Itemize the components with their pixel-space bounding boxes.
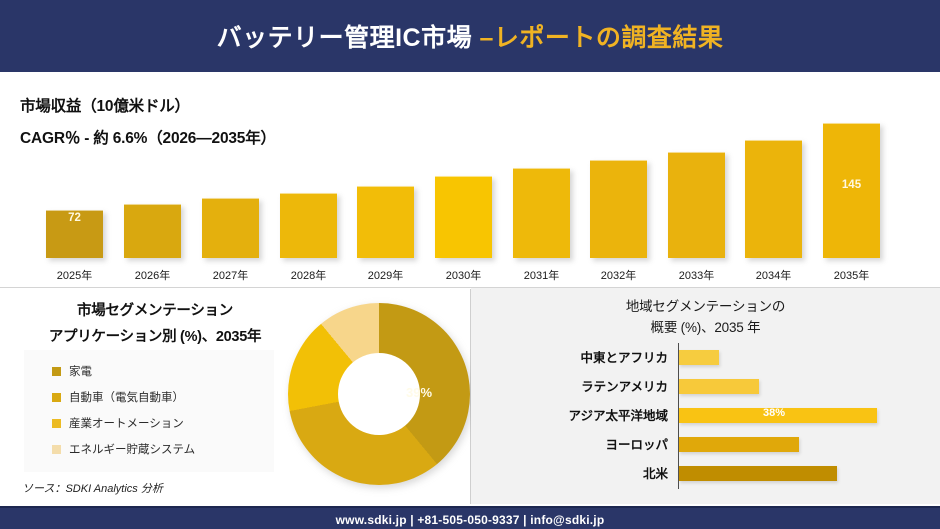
revenue-chart-section: 市場収益（10億米ドル） CAGR％ - 約 6.6%（2026—2035年） …: [0, 72, 940, 287]
footer-contact: www.sdki.jp | +81-505-050-9337 | info@sd…: [336, 513, 605, 527]
revenue-bar-value: 72: [46, 212, 103, 224]
region-bar-row: 北米: [471, 459, 940, 487]
legend-swatch-icon: [52, 393, 61, 402]
page-title: バッテリー管理IC市場 –レポートの調査結果: [217, 18, 724, 54]
region-bar: [679, 379, 759, 394]
revenue-bar: [357, 186, 414, 258]
header-banner: バッテリー管理IC市場 –レポートの調査結果: [0, 0, 940, 74]
region-bar-chart: 中東とアフリカラテンアメリカアジア太平洋地域38%ヨーロッパ北米: [471, 343, 940, 493]
donut-chart: 39%: [288, 303, 470, 485]
revenue-bar-label: 2029年: [351, 267, 420, 283]
donut-value-label: 39%: [406, 385, 432, 400]
region-bar-label: アジア太平洋地域: [568, 405, 668, 424]
page-title-accent: –レポートの調査結果: [480, 24, 724, 52]
region-bar-row: 中東とアフリカ: [471, 343, 940, 371]
regional-segmentation-panel: 地域セグメンテーションの 概要 (%)、2035 年 中東とアフリカラテンアメリ…: [471, 288, 940, 504]
revenue-bar-label: 2031年: [507, 267, 576, 283]
source-note: ソース：SDKI Analytics 分析: [22, 480, 163, 496]
region-bar-label: 北米: [643, 463, 668, 482]
legend-item[interactable]: 自動車（電気自動車）: [30, 384, 268, 410]
revenue-bar: [513, 168, 570, 258]
region-bar: [679, 350, 719, 365]
legend-swatch-icon: [52, 367, 61, 376]
page-title-main: バッテリー管理IC市場: [217, 24, 480, 52]
legend-item[interactable]: エネルギー貯蔵システム: [30, 436, 268, 462]
region-bar: [679, 437, 799, 452]
legend-item-label: 家電: [69, 363, 92, 379]
revenue-bar-value: 145: [823, 179, 880, 191]
footer-banner: www.sdki.jp | +81-505-050-9337 | info@sd…: [0, 506, 940, 529]
revenue-bar: [745, 140, 802, 258]
donut-legend: 家電自動車（電気自動車）産業オートメーションエネルギー貯蔵システム: [24, 350, 274, 472]
legend-swatch-icon: [52, 445, 61, 454]
revenue-bar: [124, 204, 181, 258]
revenue-bar-label: 2030年: [429, 267, 498, 283]
legend-item[interactable]: 産業オートメーション: [30, 410, 268, 436]
region-bar-label: 中東とアフリカ: [580, 347, 668, 366]
region-bar-row: アジア太平洋地域38%: [471, 401, 940, 429]
revenue-bar-label: 2034年: [739, 267, 808, 283]
revenue-bar-label: 2027年: [196, 267, 265, 283]
region-title: 地域セグメンテーションの 概要 (%)、2035 年: [471, 296, 940, 338]
segmentation-title: 市場セグメンテーション アプリケーション別 (%)、2035年: [10, 298, 300, 350]
revenue-bar-label: 2032年: [584, 267, 653, 283]
region-bar-row: ラテンアメリカ: [471, 372, 940, 400]
revenue-bar: [435, 176, 492, 258]
revenue-bar-label: 2026年: [118, 267, 187, 283]
legend-item[interactable]: 家電: [30, 358, 268, 384]
revenue-bar-label: 2025年: [40, 267, 109, 283]
region-title-line2: 概要 (%)、2035 年: [471, 317, 940, 338]
segmentation-title-line2: アプリケーション別 (%)、2035年: [10, 324, 300, 350]
legend-item-label: 自動車（電気自動車）: [69, 389, 184, 405]
region-bar: [679, 466, 837, 481]
region-bar-label: ラテンアメリカ: [581, 376, 668, 395]
region-bar-value: 38%: [763, 407, 785, 419]
revenue-bar: [280, 193, 337, 258]
revenue-bar: [668, 152, 725, 258]
region-title-line1: 地域セグメンテーションの: [471, 296, 940, 317]
segmentation-title-line1: 市場セグメンテーション: [10, 298, 300, 324]
revenue-bar: [202, 198, 259, 258]
infographic-page: バッテリー管理IC市場 –レポートの調査結果 市場収益（10億米ドル） CAGR…: [0, 0, 940, 529]
region-bar-row: ヨーロッパ: [471, 430, 940, 458]
application-segmentation-panel: 市場セグメンテーション アプリケーション別 (%)、2035年 家電自動車（電気…: [0, 288, 470, 504]
revenue-bar: [590, 160, 647, 258]
revenue-bar-chart: 722025年2026年2027年2028年2029年2030年2031年203…: [0, 72, 940, 287]
revenue-bar-label: 2028年: [274, 267, 343, 283]
revenue-bar-label: 2035年: [817, 267, 886, 283]
legend-item-label: 産業オートメーション: [69, 415, 184, 431]
revenue-bar-label: 2033年: [662, 267, 731, 283]
region-bar-label: ヨーロッパ: [605, 434, 668, 453]
legend-item-label: エネルギー貯蔵システム: [69, 441, 195, 457]
legend-swatch-icon: [52, 419, 61, 428]
